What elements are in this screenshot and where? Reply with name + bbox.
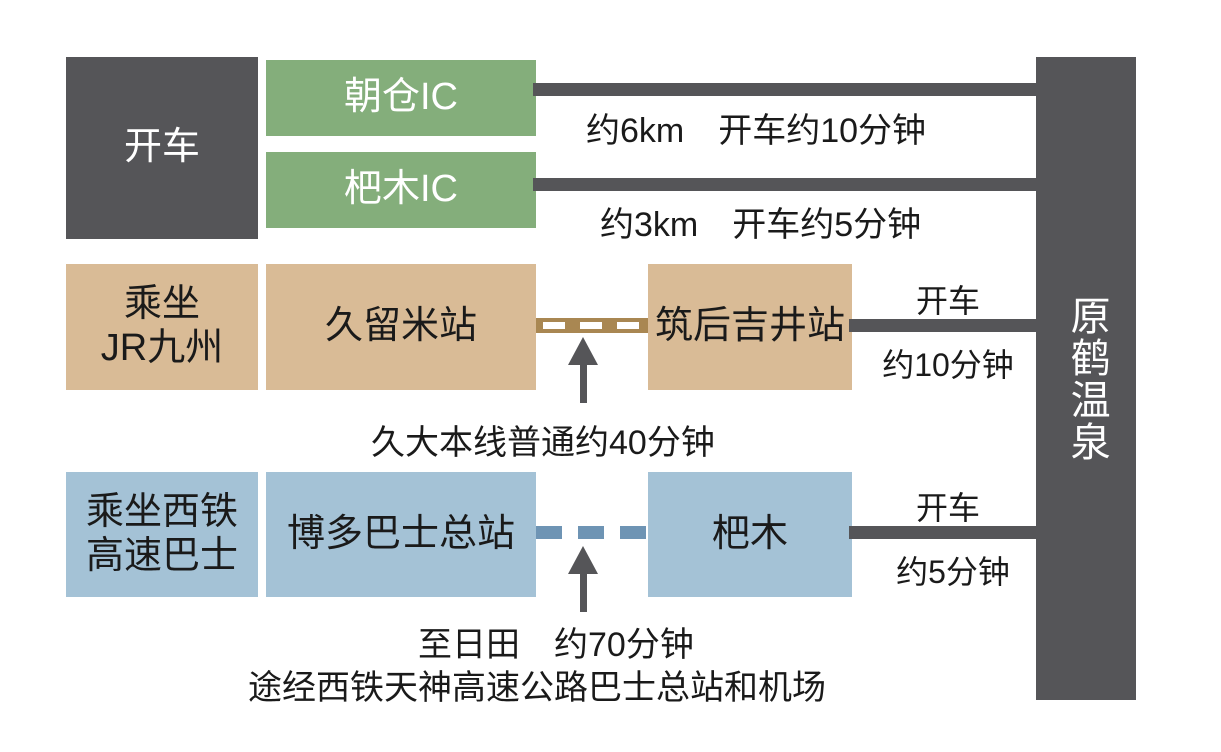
node-haki-bus-stop[interactable]: 杷木 bbox=[648, 472, 852, 597]
rail-tie bbox=[580, 322, 602, 329]
leg-label-asakura: 约6km 开车约10分钟 bbox=[586, 103, 926, 152]
leg-label-haki: 约3km 开车约5分钟 bbox=[600, 197, 921, 246]
bus-final-leg-mode: 开车 bbox=[868, 483, 1028, 529]
jr-final-leg-duration: 约10分钟 bbox=[858, 340, 1038, 386]
node-haki-ic-label: 杷木IC bbox=[344, 168, 458, 212]
bus-connector-caption-line1: 至日田 约70分钟 bbox=[418, 617, 694, 666]
mode-label-car: 开车 bbox=[66, 57, 258, 239]
node-haki-ic[interactable]: 杷木IC bbox=[266, 152, 536, 228]
railway-connector-jr bbox=[536, 318, 650, 333]
jr-arrow-stem bbox=[580, 363, 587, 403]
bus-final-leg-duration: 约5分钟 bbox=[868, 547, 1038, 593]
mode-label-bus: 乘坐西铁 高速巴士 bbox=[66, 472, 258, 597]
node-hakata-bus-terminal-label: 博多巴士总站 bbox=[287, 513, 515, 557]
jr-arrow-head bbox=[568, 337, 598, 365]
destination-label: 原鹤温泉 bbox=[1062, 295, 1109, 463]
mode-label-jr-text: 乘坐 JR九州 bbox=[101, 283, 223, 370]
node-hakata-bus-terminal[interactable]: 博多巴士总站 bbox=[266, 472, 536, 597]
node-asakura-ic-label: 朝仓IC bbox=[344, 76, 458, 120]
bus-connector-caption-line2: 途经西铁天神高速公路巴士总站和机场 bbox=[248, 660, 826, 709]
node-kurume-station-label: 久留米站 bbox=[325, 305, 477, 349]
rail-tie bbox=[543, 322, 565, 329]
node-haki-bus-stop-label: 杷木 bbox=[712, 513, 788, 557]
road-connector-asakura bbox=[533, 83, 1045, 96]
road-connector-haki bbox=[533, 178, 1045, 191]
destination-harazuru-onsen: 原鹤温泉 bbox=[1036, 57, 1136, 700]
mode-label-jr: 乘坐 JR九州 bbox=[66, 264, 258, 390]
jr-final-leg-mode: 开车 bbox=[868, 276, 1028, 322]
rail-tie bbox=[617, 322, 639, 329]
access-diagram: 开车 朝仓IC 杷木IC 约6km 开车约10分钟 约3km 开车约5分钟 乘坐… bbox=[0, 0, 1221, 752]
bus-arrow-head bbox=[568, 546, 598, 574]
node-chikugoyoshii-station-label: 筑后吉井站 bbox=[655, 305, 845, 349]
bus-arrow-stem bbox=[580, 572, 587, 612]
node-chikugoyoshii-station[interactable]: 筑后吉井站 bbox=[648, 264, 852, 390]
mode-label-bus-text: 乘坐西铁 高速巴士 bbox=[86, 491, 238, 578]
jr-connector-caption: 久大本线普通约40分钟 bbox=[371, 415, 715, 464]
node-kurume-station[interactable]: 久留米站 bbox=[266, 264, 536, 390]
bus-connector-line bbox=[536, 526, 651, 539]
mode-label-car-text: 开车 bbox=[124, 126, 200, 170]
node-asakura-ic[interactable]: 朝仓IC bbox=[266, 60, 536, 136]
